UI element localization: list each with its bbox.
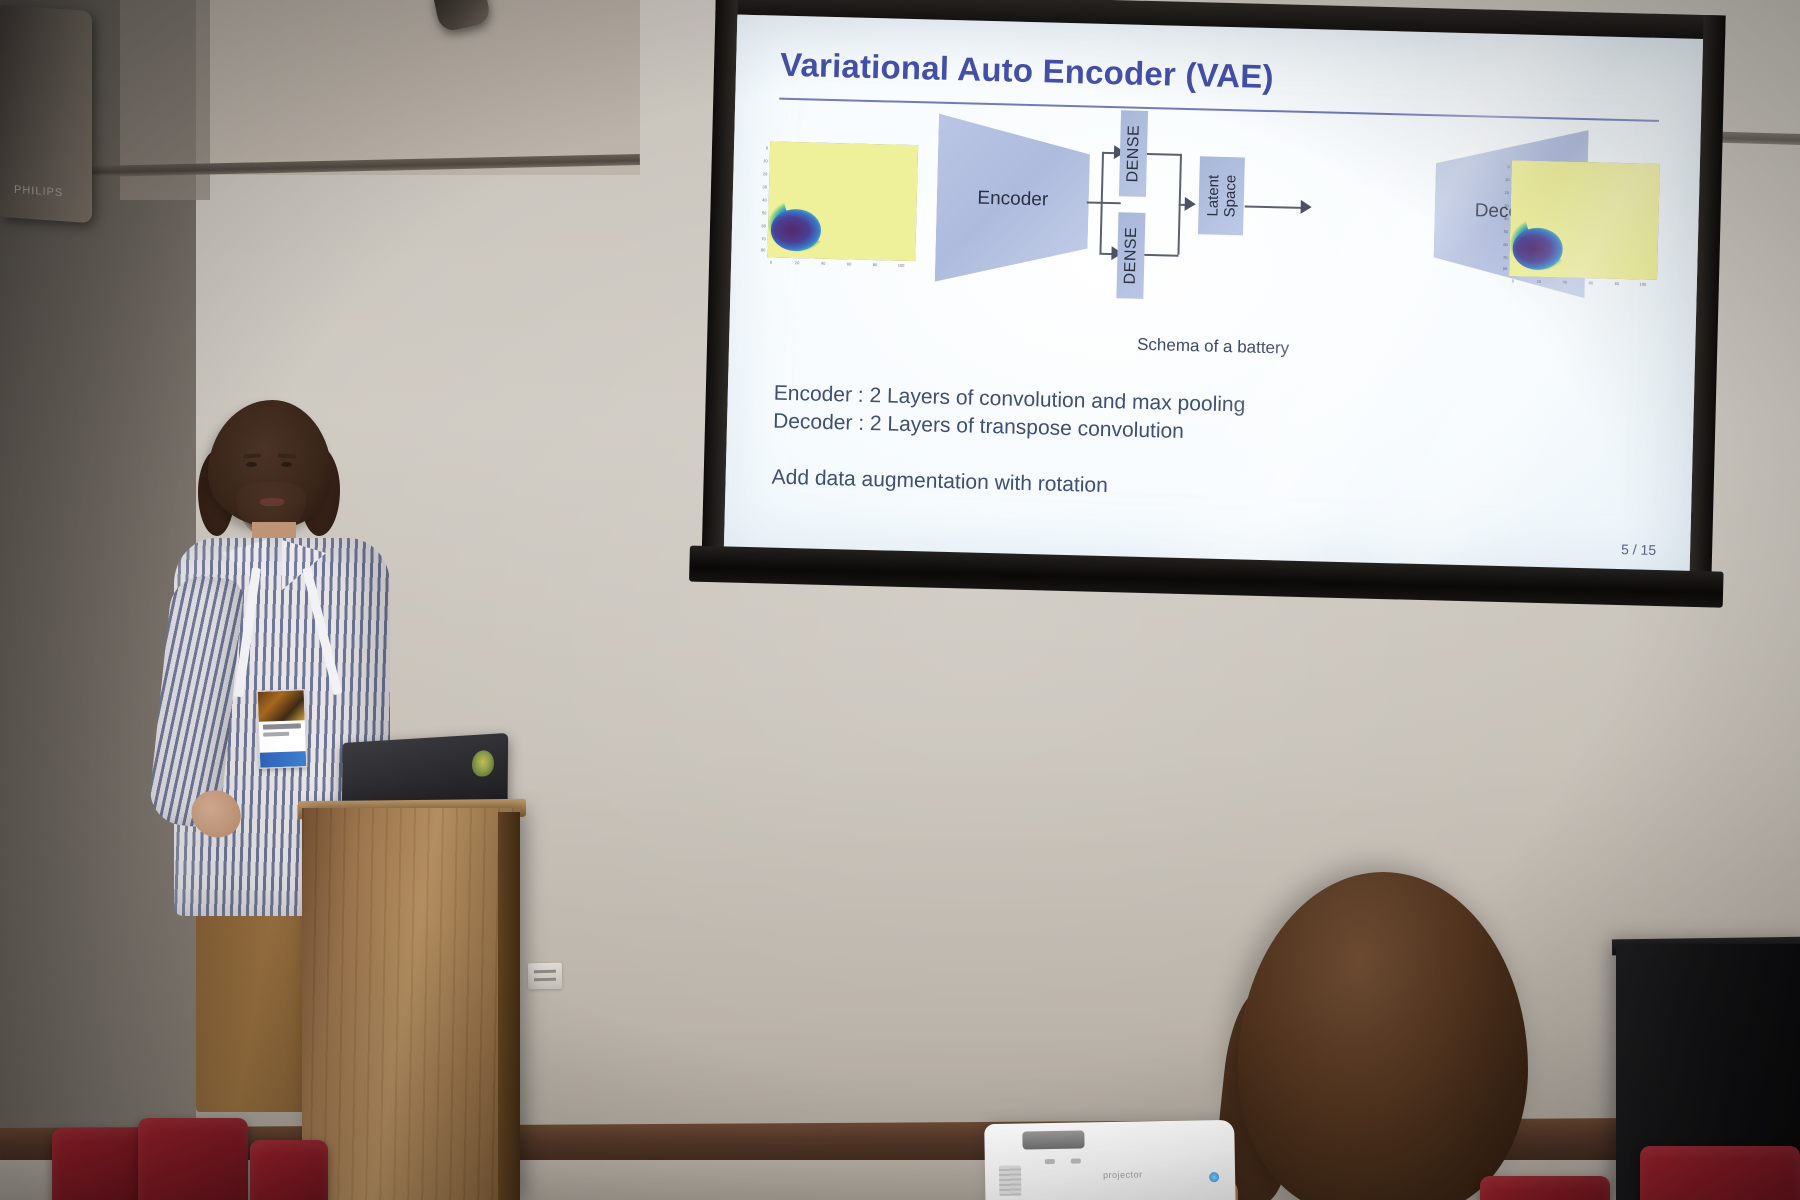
dense-top-label: DENSE xyxy=(1124,125,1143,183)
auditorium-seat xyxy=(1640,1146,1800,1200)
projector-button-2[interactable] xyxy=(1071,1159,1081,1164)
auditorium-seat xyxy=(52,1128,144,1200)
input-xtick-1: 20 xyxy=(790,260,804,265)
input-xtick-2: 40 xyxy=(816,261,830,266)
wire-split-up xyxy=(1101,152,1104,204)
wire-latent-to-decoder xyxy=(1245,205,1303,208)
output-ytick-1: 10 xyxy=(1498,177,1509,182)
input-ytick-2: 20 xyxy=(756,171,767,176)
input-xtick-5: 100 xyxy=(894,263,908,268)
projected-slide: Variational Auto Encoder (VAE) 0 10 20 3… xyxy=(724,15,1703,573)
presenter-eye-left xyxy=(246,462,257,467)
slide-note-augmentation: Add data augmentation with rotation xyxy=(771,466,1108,499)
arrow-decoder-icon xyxy=(1301,200,1312,214)
conference-badge xyxy=(257,689,308,769)
input-xtick-0: 0 xyxy=(764,259,778,264)
slide-page-number: 5 / 15 xyxy=(1621,541,1656,558)
projection-screen: Variational Auto Encoder (VAE) 0 10 20 3… xyxy=(701,0,1726,607)
laptop-sticker-icon xyxy=(472,750,494,777)
presenter-mouth xyxy=(260,498,284,506)
ceiling-speaker: PHILIPS xyxy=(0,5,92,223)
input-heatmap-image: 0 10 20 30 40 50 60 70 80 0 20 40 60 80 … xyxy=(767,141,918,261)
podium-right-edge xyxy=(498,812,520,1200)
presenter-eye-right xyxy=(281,462,292,467)
speaker-brand-label: PHILIPS xyxy=(14,184,63,199)
vae-architecture-diagram: 0 10 20 30 40 50 60 70 80 0 20 40 60 80 … xyxy=(766,123,1667,346)
input-heatmap-hotspot xyxy=(770,209,821,252)
projector-vent xyxy=(999,1166,1022,1196)
slide-title-underline xyxy=(779,98,1659,122)
output-ytick-6: 60 xyxy=(1497,242,1508,247)
badge-photo xyxy=(258,690,305,722)
podium-wood-grain xyxy=(302,808,520,1200)
output-ytick-2: 20 xyxy=(1498,190,1509,195)
dense-block-top: DENSE xyxy=(1119,110,1148,197)
wooden-podium xyxy=(302,808,520,1200)
auditorium-seat xyxy=(138,1118,248,1200)
wire-split-down xyxy=(1099,202,1102,254)
input-ytick-1: 10 xyxy=(757,158,768,163)
output-heatmap-hotspot xyxy=(1512,228,1563,271)
wire-dense-top-out xyxy=(1147,153,1181,155)
output-xtick-1: 20 xyxy=(1532,279,1546,284)
latent-line-1: Latent xyxy=(1204,175,1222,217)
output-ytick-3: 30 xyxy=(1498,203,1509,208)
encoder-label: Encoder xyxy=(937,187,1090,213)
output-ytick-0: 0 xyxy=(1499,164,1510,169)
wire-encoder-out xyxy=(1087,201,1121,203)
wall-outlet xyxy=(528,963,562,990)
slide-bullet-decoder: Decoder : 2 Layers of transpose convolut… xyxy=(773,410,1184,444)
output-ytick-4: 40 xyxy=(1497,216,1508,221)
auditorium-seat xyxy=(250,1140,328,1200)
outlet-slot-bottom xyxy=(534,978,556,981)
projector-status-led xyxy=(1209,1172,1219,1182)
input-xtick-4: 80 xyxy=(868,262,882,267)
projector-lens xyxy=(1022,1130,1084,1149)
output-xtick-2: 40 xyxy=(1558,279,1572,284)
output-xtick-5: 100 xyxy=(1636,281,1650,286)
encoder-block: Encoder xyxy=(935,114,1091,286)
output-xtick-4: 80 xyxy=(1610,281,1624,286)
output-heatmap-image: 0 10 20 30 40 50 60 70 80 0 20 40 60 80 … xyxy=(1509,160,1660,280)
wire-dense-bottom-out xyxy=(1144,254,1178,256)
dense-block-bottom: DENSE xyxy=(1116,212,1145,299)
latent-space-block: LatentSpace xyxy=(1198,156,1245,235)
slide-title: Variational Auto Encoder (VAE) xyxy=(780,46,1275,96)
output-xtick-3: 60 xyxy=(1584,280,1598,285)
badge-footer-bar xyxy=(260,751,307,768)
output-ytick-8: 80 xyxy=(1496,266,1507,271)
presentation-photo-scene: PHILIPS Variational Auto Encoder (VAE) 0… xyxy=(0,0,1800,1200)
wall-upper-panel xyxy=(180,0,640,175)
badge-name-line xyxy=(263,724,301,730)
input-xtick-3: 60 xyxy=(842,261,856,266)
input-ytick-4: 40 xyxy=(756,197,767,202)
badge-affiliation-line xyxy=(263,732,289,737)
auditorium-seat xyxy=(1480,1176,1610,1200)
input-ytick-8: 80 xyxy=(754,247,765,252)
input-ytick-5: 50 xyxy=(755,210,766,215)
latent-space-label: LatentSpace xyxy=(1204,174,1239,217)
outlet-slot-top xyxy=(534,970,556,973)
input-ytick-3: 30 xyxy=(756,184,767,189)
projector-brand-label: projector xyxy=(1103,1169,1143,1180)
video-projector: projector xyxy=(984,1120,1236,1200)
output-xtick-0: 0 xyxy=(1506,278,1520,283)
input-ytick-6: 60 xyxy=(755,223,766,228)
input-ytick-7: 70 xyxy=(755,236,766,241)
latent-line-2: Space xyxy=(1221,175,1239,218)
output-ytick-7: 70 xyxy=(1496,255,1507,260)
projector-button-1[interactable] xyxy=(1045,1159,1055,1164)
output-ytick-5: 50 xyxy=(1497,229,1508,234)
input-ytick-0: 0 xyxy=(757,145,768,150)
arrow-latent-icon xyxy=(1185,197,1196,211)
dense-bottom-label: DENSE xyxy=(1121,227,1140,285)
